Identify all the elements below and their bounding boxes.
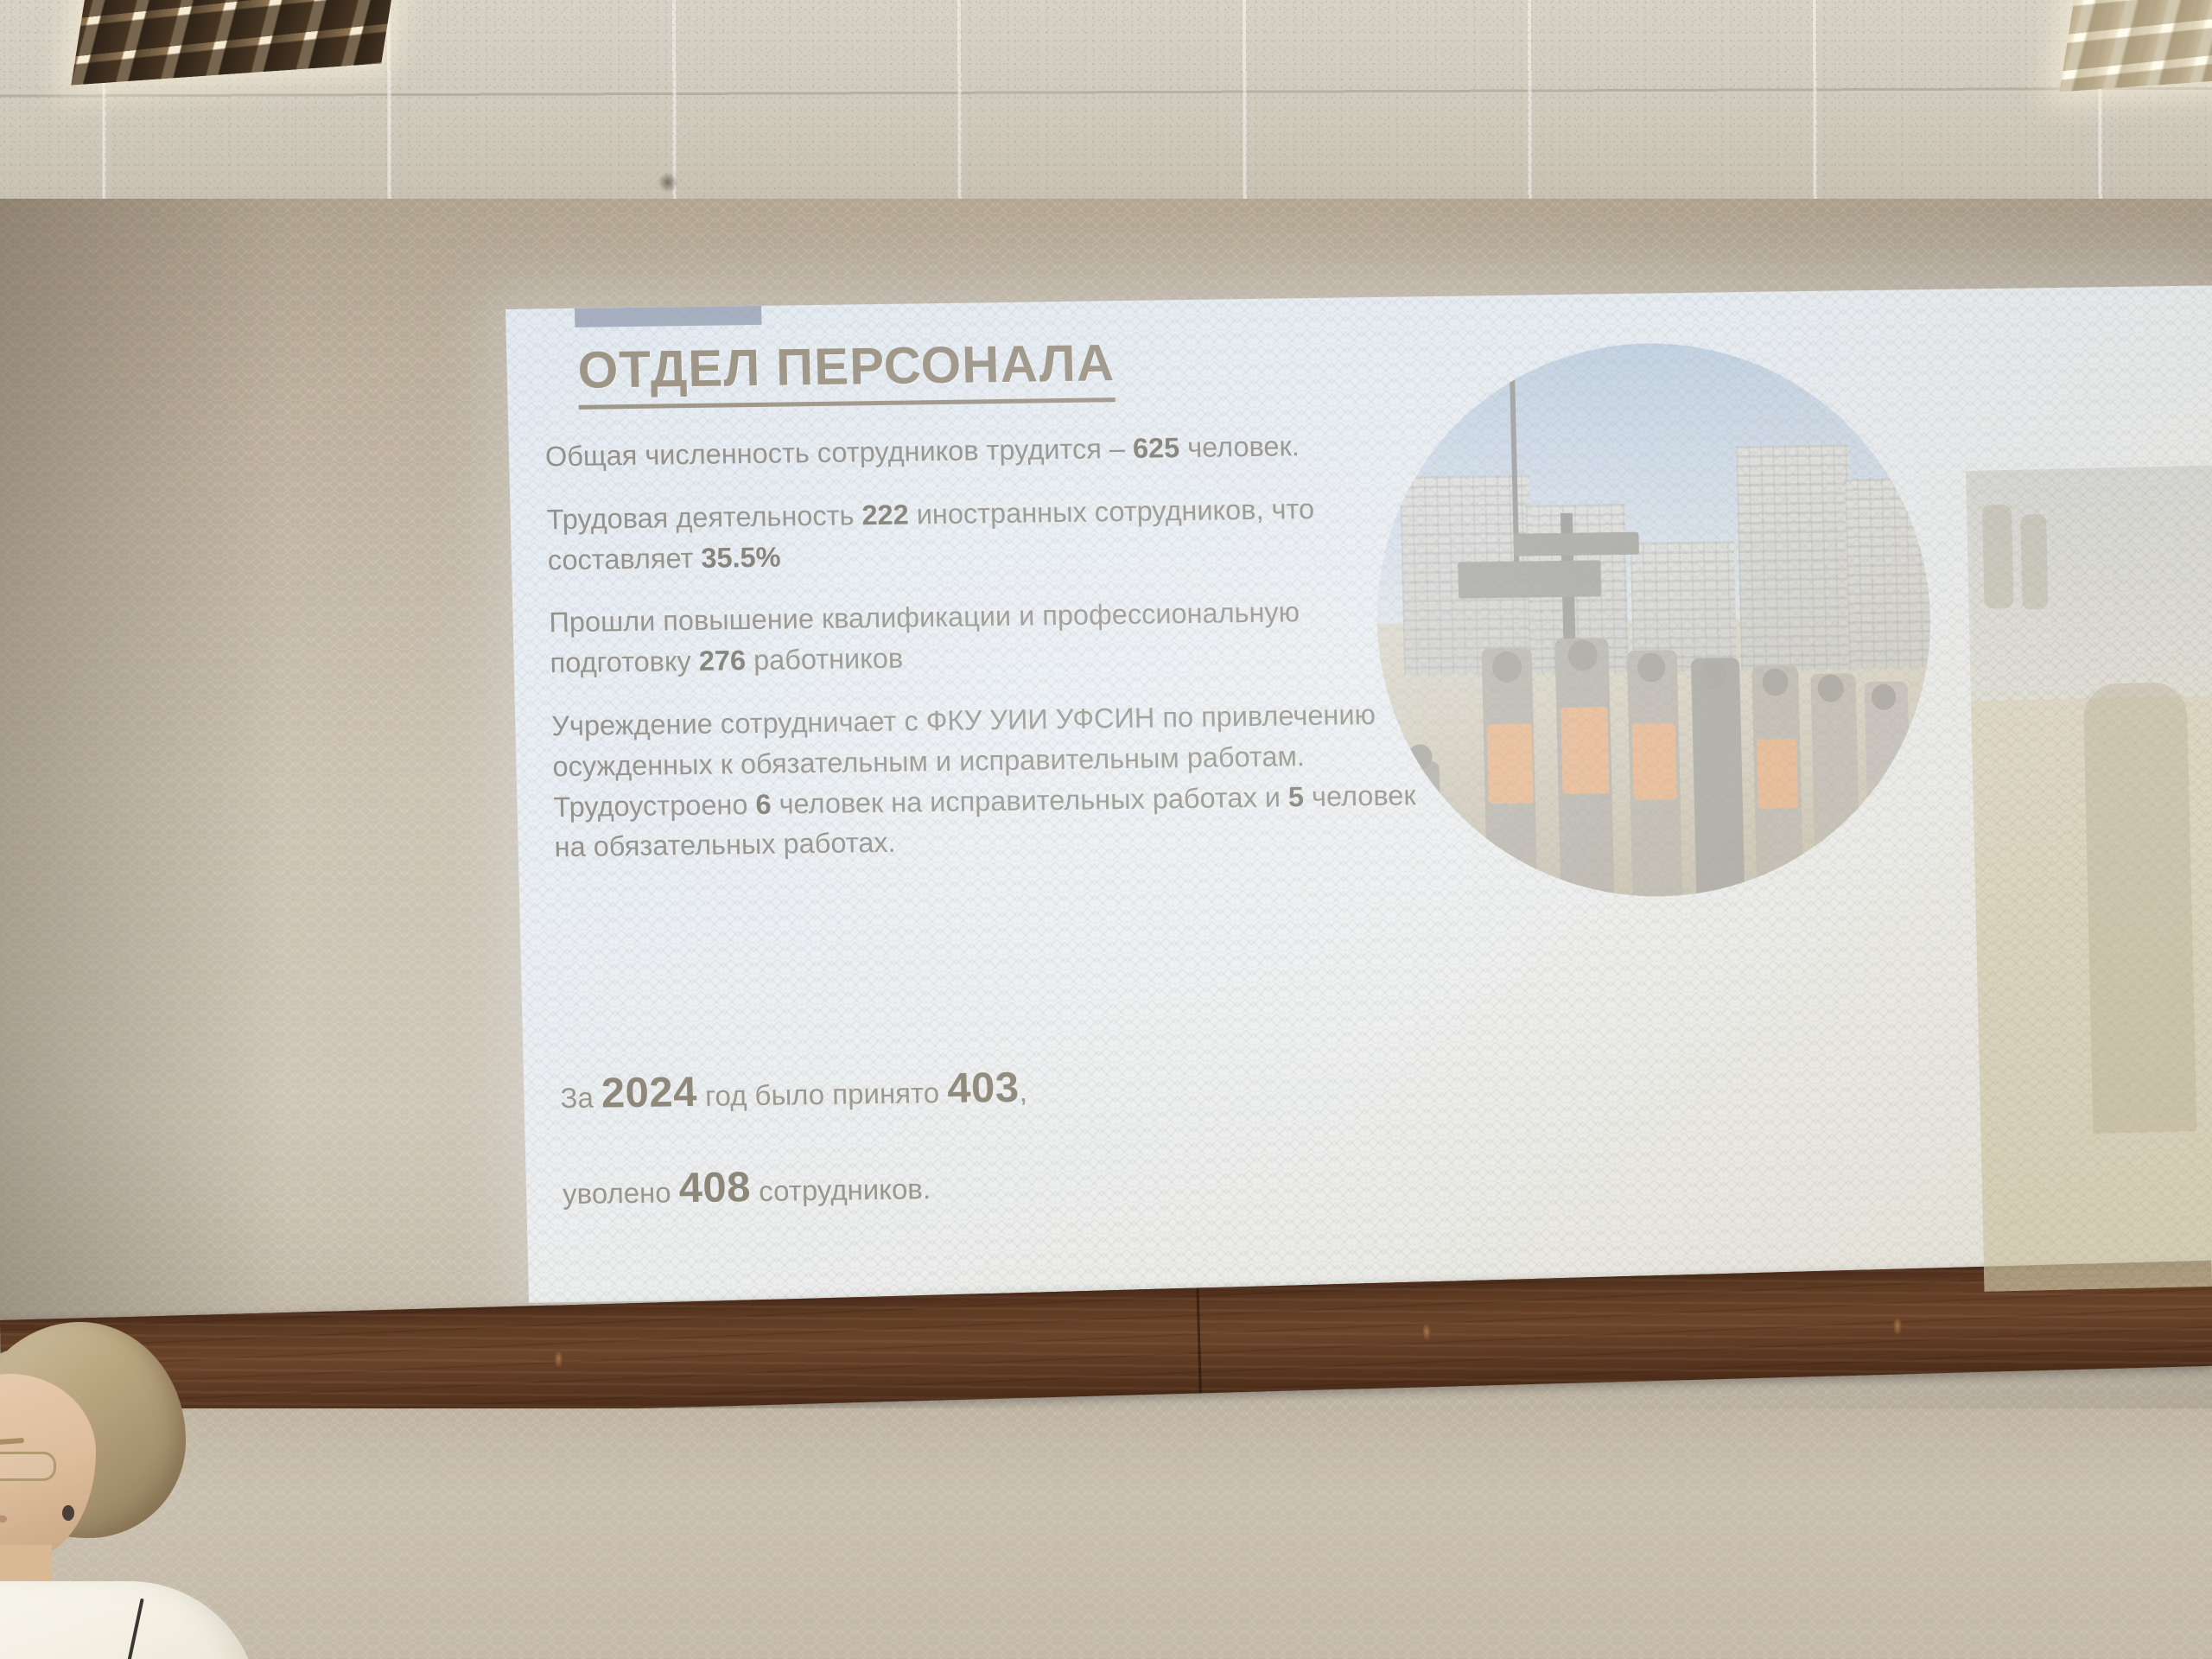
photo-sign xyxy=(1513,532,1639,556)
photo-sign xyxy=(1458,560,1601,598)
photo-interior-texture xyxy=(1966,465,2212,1292)
photo-building xyxy=(1736,444,1853,671)
text-run: работников xyxy=(746,643,904,677)
ceiling-light-fixture-right xyxy=(2059,0,2212,92)
photo-building xyxy=(1845,478,1936,669)
emphasised-value: 35.5% xyxy=(701,541,781,573)
photo-worker xyxy=(1691,658,1745,896)
slide-footer-line: уволено 408 сотрудников. xyxy=(562,1154,1340,1215)
suspended-ceiling xyxy=(0,0,2212,216)
photo-worker-head xyxy=(1817,674,1844,702)
text-run: Прошли повышение квалификации и професси… xyxy=(549,597,1300,679)
slide-body-text: Общая численность сотрудников трудится –… xyxy=(544,424,1427,890)
photo-safety-vest xyxy=(1757,739,1798,809)
room-photo-scene: ОТДЕЛ ПЕРСОНАЛА xyxy=(0,0,2212,1659)
photo-worker xyxy=(1865,681,1913,893)
secondary-photo-interior xyxy=(1966,465,2212,1292)
photo-worker xyxy=(1810,673,1860,894)
wood-knot xyxy=(1422,1323,1432,1340)
slide-paragraph: Трудовая деятельность 222 иностранных со… xyxy=(546,487,1421,581)
wall-below-trim xyxy=(0,1408,2212,1659)
slide-title: ОТДЕЛ ПЕРСОНАЛА xyxy=(577,333,1116,410)
slide-accent-bar xyxy=(575,306,762,327)
emphasised-value: 625 xyxy=(1133,432,1180,464)
photo-worker-head xyxy=(1567,639,1598,671)
wall-herringbone-texture xyxy=(0,1408,2212,1659)
photo-safety-vest xyxy=(1487,723,1534,804)
slide-footer-stats: За 2024 год было принято 403, уволено 40… xyxy=(560,1058,1342,1261)
emphasised-value: 2024 xyxy=(601,1069,697,1117)
slide-paragraph: Общая численность сотрудников трудится –… xyxy=(544,424,1418,477)
emphasised-value: 5 xyxy=(1287,781,1304,812)
emphasised-value: 6 xyxy=(755,788,772,819)
wall-blemish xyxy=(657,173,679,192)
photo-safety-vest xyxy=(1632,723,1677,800)
text-run: За xyxy=(560,1082,601,1115)
emphasised-value: 403 xyxy=(947,1065,1020,1112)
text-run: Общая численность сотрудников трудится – xyxy=(545,433,1134,472)
photo-worker-head xyxy=(1872,684,1897,710)
projected-slide: ОТДЕЛ ПЕРСОНАЛА xyxy=(505,285,2212,1302)
text-run: уволено xyxy=(563,1176,680,1210)
slide-footer-line: За 2024 год было принято 403, xyxy=(560,1058,1338,1120)
text-run: , xyxy=(1019,1076,1027,1108)
emphasised-value: 276 xyxy=(698,645,746,677)
text-run: сотрудников. xyxy=(751,1173,931,1207)
text-run: год было принято xyxy=(697,1077,948,1112)
light-louver-grid xyxy=(2059,0,2212,92)
emphasised-value: 222 xyxy=(861,499,909,531)
circular-photo-workers xyxy=(1370,340,1936,900)
earring xyxy=(62,1505,74,1521)
slide-paragraph: Учреждение сотрудничает с ФКУ УИИ УФСИН … xyxy=(551,694,1427,868)
text-run: Трудовая деятельность xyxy=(546,499,862,535)
wood-knot xyxy=(554,1350,563,1367)
slide-paragraph: Прошли повышение квалификации и професси… xyxy=(549,591,1423,684)
photo-safety-vest xyxy=(1560,707,1609,794)
text-run: человек. xyxy=(1179,430,1300,463)
emphasised-value: 408 xyxy=(678,1164,752,1211)
text-run: человек на исправительных работах и xyxy=(771,781,1288,819)
wood-knot xyxy=(1893,1317,1903,1334)
glasses-lens-right xyxy=(0,1452,56,1481)
presenter-person xyxy=(0,1322,328,1659)
